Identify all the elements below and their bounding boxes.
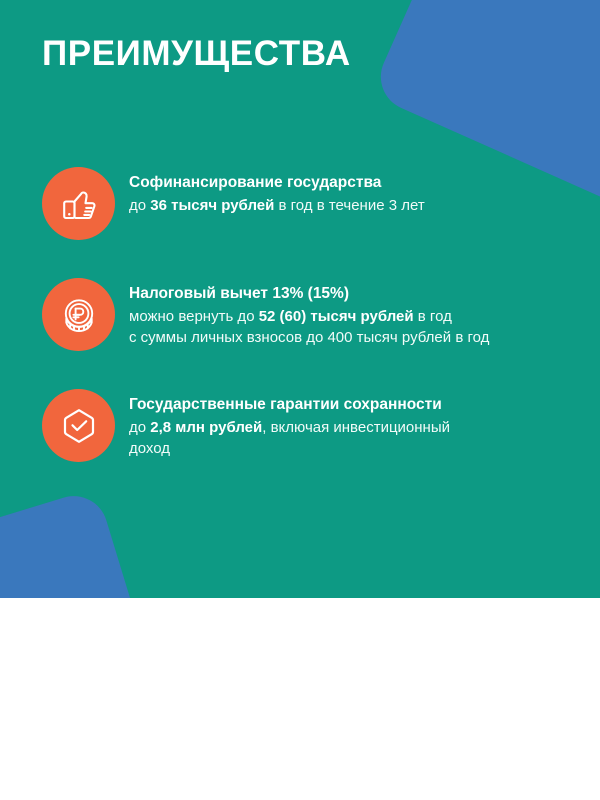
benefit-line-part: в год [414, 308, 452, 325]
thumbs-up-icon [42, 167, 115, 240]
ruble-coin-icon [42, 278, 115, 351]
benefit-text-block: Софинансирование государства до 36 тысяч… [129, 167, 425, 216]
benefit-heading: Государственные гарантии сохранности [129, 394, 450, 415]
decorative-blue-square-bottom-left [0, 488, 172, 598]
benefit-item-tax-deduction: Налоговый вычет 13% (15%) можно вернуть … [42, 278, 489, 351]
benefit-line-part-bold: 36 тысяч рублей [150, 197, 274, 214]
benefit-heading: Софинансирование государства [129, 172, 425, 193]
benefit-line-part-bold: 2,8 млн рублей [150, 419, 262, 436]
benefit-line-part: до [129, 419, 150, 436]
benefit-heading: Налоговый вычет 13% (15%) [129, 283, 489, 304]
page-title: ПРЕИМУЩЕСТВА [42, 33, 351, 75]
benefit-line-part: до [129, 197, 150, 214]
benefit-item-co-financing: Софинансирование государства до 36 тысяч… [42, 167, 425, 240]
benefit-text-block: Налоговый вычет 13% (15%) можно вернуть … [129, 278, 489, 348]
benefit-line-part: в год в течение 3 лет [274, 197, 424, 214]
benefits-slide: ПРЕИМУЩЕСТВА Софинансирование государств… [0, 0, 600, 800]
benefit-line: можно вернуть до 52 (60) тысяч рублей в … [129, 306, 489, 327]
benefit-line-part: можно вернуть до [129, 308, 259, 325]
benefit-line: с суммы личных взносов до 400 тысяч рубл… [129, 327, 489, 348]
benefit-line-part: доход [129, 440, 170, 457]
benefit-line: до 36 тысяч рублей в год в течение 3 лет [129, 195, 425, 216]
hexagon-check-icon [42, 389, 115, 462]
green-background-panel: ПРЕИМУЩЕСТВА Софинансирование государств… [0, 0, 600, 598]
benefit-line: доход [129, 438, 450, 459]
benefit-line-part: , включая инвестиционный [262, 419, 450, 436]
benefit-text-block: Государственные гарантии сохранности до … [129, 389, 450, 459]
benefit-line: до 2,8 млн рублей, включая инвестиционны… [129, 417, 450, 438]
benefit-item-state-guarantee: Государственные гарантии сохранности до … [42, 389, 450, 462]
benefit-line-part-bold: 52 (60) тысяч рублей [259, 308, 414, 325]
benefit-line-part: с суммы личных взносов до 400 тысяч рубл… [129, 329, 489, 346]
